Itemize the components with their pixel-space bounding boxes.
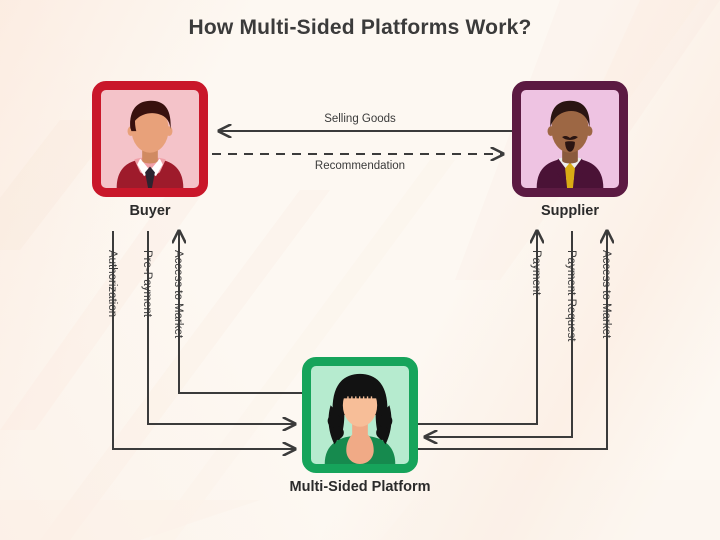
platform-card xyxy=(302,357,418,473)
edge-label-authorization: Authorization xyxy=(106,250,118,317)
male-avatar-supplier-icon xyxy=(521,90,619,188)
edge-label-selling-goods: Selling Goods xyxy=(285,113,435,125)
edge-payment xyxy=(418,231,537,424)
female-avatar-platform-icon xyxy=(311,366,409,464)
node-platform[interactable]: Multi-Sided Platform xyxy=(302,357,418,473)
buyer-card xyxy=(92,81,208,197)
edge-label-access-to-market-supplier: Access to Market xyxy=(600,250,612,338)
edge-access-to-market-supplier xyxy=(418,231,607,449)
buyer-label: Buyer xyxy=(129,203,170,219)
node-supplier[interactable]: Supplier xyxy=(512,81,628,197)
edge-pre-payment xyxy=(148,231,295,424)
male-avatar-buyer-icon xyxy=(101,90,199,188)
edge-access-to-market-buyer xyxy=(179,231,302,393)
buyer-avatar-frame xyxy=(101,90,199,188)
diagram-canvas: How Multi-Sided Platforms Work? xyxy=(0,0,720,540)
edge-label-pre-payment: Pre-Payment xyxy=(141,250,153,317)
platform-avatar-frame xyxy=(311,366,409,464)
supplier-card xyxy=(512,81,628,197)
supplier-avatar-frame xyxy=(521,90,619,188)
page-title: How Multi-Sided Platforms Work? xyxy=(0,16,720,40)
edge-label-payment: Payment xyxy=(530,250,542,295)
edge-label-payment-request: Payment Request xyxy=(565,250,577,341)
platform-label: Multi-Sided Platform xyxy=(290,479,431,495)
node-buyer[interactable]: Buyer xyxy=(92,81,208,197)
edge-label-access-to-market-buyer: Access to Market xyxy=(172,250,184,338)
edge-payment-request xyxy=(425,231,572,437)
edge-label-recommendation: Recommendation xyxy=(285,160,435,172)
supplier-label: Supplier xyxy=(541,203,599,219)
